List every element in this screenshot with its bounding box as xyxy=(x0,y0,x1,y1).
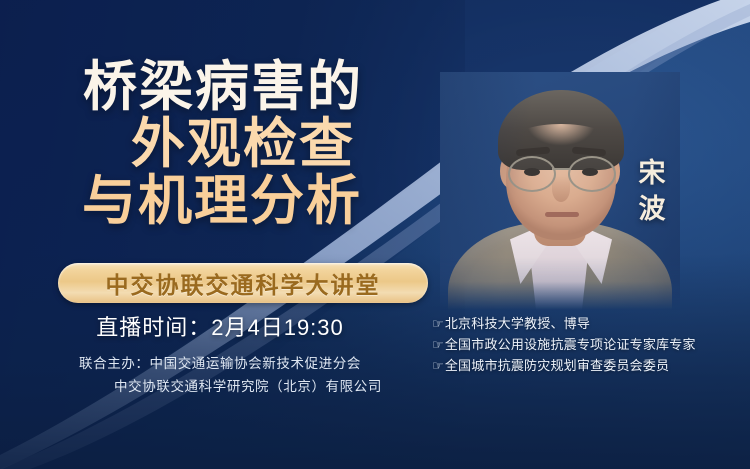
credential-text: 全国城市抗震防灾规划审查委员会委员 xyxy=(445,355,669,376)
pointing-hand-icon: ☞ xyxy=(432,355,444,376)
speaker-credentials: ☞ 北京科技大学教授、博导 ☞ 全国市政公用设施抗震专项论证专家库专家 ☞ 全国… xyxy=(432,313,742,376)
pointing-hand-icon: ☞ xyxy=(432,313,444,334)
organizers-block: 联合主办：中国交通运输协会新技术促进分会 中交协联交通科学研究院（北京）有限公司 xyxy=(0,352,440,398)
title-line-2: 外观检查 xyxy=(0,117,440,172)
live-time-text: 直播时间：2月4日19:30 xyxy=(0,310,440,342)
organizer-line-2: 中交协联交通科学研究院（北京）有限公司 xyxy=(0,375,440,398)
credential-item: ☞ 全国市政公用设施抗震专项论证专家库专家 xyxy=(432,334,742,355)
credential-text: 全国市政公用设施抗震专项论证专家库专家 xyxy=(445,334,696,355)
credential-item: ☞ 全国城市抗震防灾规划审查委员会委员 xyxy=(432,355,742,376)
organizer-line-1: 联合主办：中国交通运输协会新技术促进分会 xyxy=(0,352,440,375)
series-banner-label: 中交协联交通科学大讲堂 xyxy=(106,266,381,300)
title-line-1: 桥梁病害的 xyxy=(0,60,440,115)
poster-title: 桥梁病害的 外观检查 与机理分析 xyxy=(0,60,440,229)
title-line-3: 与机理分析 xyxy=(0,174,440,229)
speaker-name: 宋 波 xyxy=(632,155,672,228)
speaker-name-char-1: 宋 xyxy=(632,155,672,191)
credential-item: ☞ 北京科技大学教授、博导 xyxy=(432,313,742,334)
webinar-poster: 桥梁病害的 外观检查 与机理分析 中交协联交通科学大讲堂 直播时间：2月4日19… xyxy=(0,0,750,469)
pointing-hand-icon: ☞ xyxy=(432,334,444,355)
series-banner: 中交协联交通科学大讲堂 xyxy=(58,263,428,303)
speaker-name-char-2: 波 xyxy=(632,191,672,227)
credential-text: 北京科技大学教授、博导 xyxy=(445,313,590,334)
